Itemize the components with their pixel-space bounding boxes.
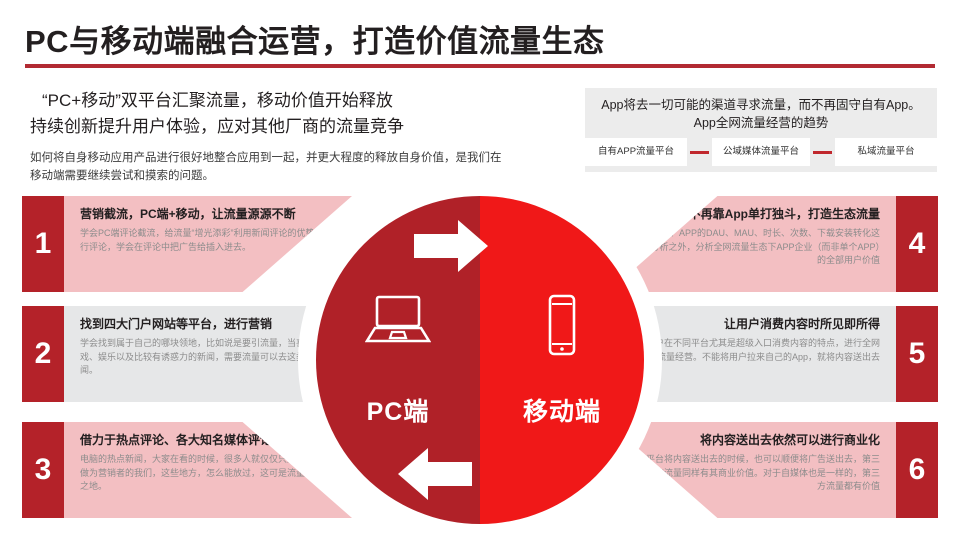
- intro-block: “PC+移动”双平台汇聚流量，移动价值开始释放 持续创新提升用户体验，应对其他厂…: [30, 88, 510, 185]
- trend-headline-line1: App将去一切可能的渠道寻求流量，而不再固守自有App。: [585, 96, 937, 114]
- smartphone-icon: [480, 294, 644, 356]
- panel-number-6: 6: [896, 422, 938, 518]
- intro-lead-line1: “PC+移动”双平台汇聚流量，移动价值开始释放: [30, 88, 510, 114]
- laptop-icon: [316, 294, 480, 344]
- panel-number-1: 1: [22, 196, 64, 292]
- title-divider: [25, 64, 935, 68]
- panel-number-2: 2: [22, 306, 64, 402]
- mobile-label: 移动端: [480, 392, 644, 428]
- intro-lead-line2: 持续创新提升用户体验，应对其他厂商的流量竞争: [30, 117, 404, 136]
- pc-label: PC端: [316, 392, 480, 428]
- trend-headline-line2: App全网流量经营的趋势: [585, 114, 937, 132]
- panel-number-3: 3: [22, 422, 64, 518]
- page-title: PC与移动端融合运营，打造价值流量生态: [25, 16, 605, 61]
- panel-number-5: 5: [896, 306, 938, 402]
- trend-headline: App将去一切可能的渠道寻求流量，而不再固守自有App。 App全网流量经营的趋…: [585, 88, 937, 132]
- chip-private-domain-platform[interactable]: 私域流量平台: [835, 138, 937, 166]
- center-diagram: PC端 移动端: [298, 178, 662, 542]
- panel-number-4: 4: [896, 196, 938, 292]
- trend-box: App将去一切可能的渠道寻求流量，而不再固守自有App。 App全网流量经营的趋…: [585, 88, 937, 172]
- intro-lead: “PC+移动”双平台汇聚流量，移动价值开始释放 持续创新提升用户体验，应对其他厂…: [30, 88, 510, 140]
- chip-own-app-platform[interactable]: 自有APP流量平台: [585, 138, 687, 166]
- trend-chip-row: 自有APP流量平台 公域媒体流量平台 私域流量平台: [585, 138, 937, 166]
- chip-connector-icon: [813, 151, 832, 154]
- arrow-left-icon: [396, 444, 472, 504]
- slide-root: PC与移动端融合运营，打造价值流量生态 “PC+移动”双平台汇聚流量，移动价值开…: [0, 0, 960, 540]
- chip-public-media-platform[interactable]: 公域媒体流量平台: [712, 138, 809, 166]
- chip-connector-icon: [690, 151, 709, 154]
- arrow-right-icon: [414, 216, 490, 276]
